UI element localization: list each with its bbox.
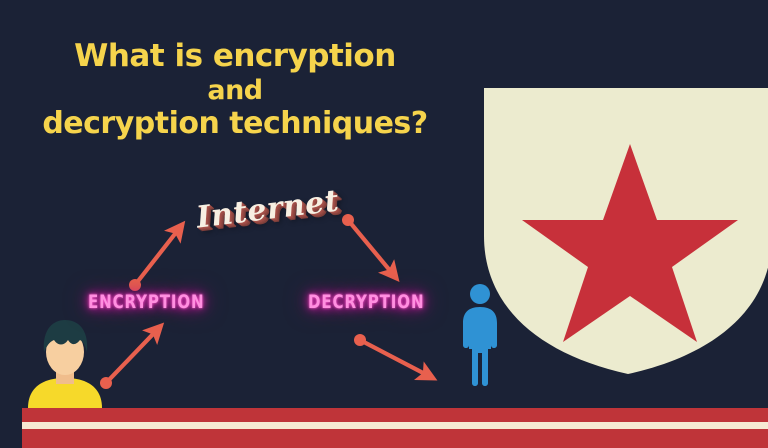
infographic-canvas: What is encryption and decryption techni… (0, 0, 768, 448)
bottom-band (22, 408, 768, 448)
arrow-sender-to-encryption (100, 331, 156, 389)
internet-label: Internet (194, 183, 341, 235)
receiver-body-shape (463, 307, 497, 386)
title-line-1: What is encryption (0, 38, 470, 75)
title-line-3: decryption techniques? (0, 106, 470, 141)
sender-avatar (22, 316, 108, 408)
page-title: What is encryption and decryption techni… (0, 38, 470, 142)
bottom-band-stripe (22, 422, 768, 429)
title-line-2: and (0, 75, 470, 107)
receiver-head-shape (470, 284, 490, 304)
arrow-decryption-to-receiver (354, 334, 427, 375)
arrow-internet-to-decryption (342, 214, 392, 273)
shield-graphic (482, 86, 768, 376)
receiver-figure (455, 283, 505, 387)
decryption-label: DECRYPTION (308, 291, 424, 313)
arrow-encryption-to-internet (129, 230, 178, 291)
encryption-label: ENCRYPTION (88, 291, 205, 313)
